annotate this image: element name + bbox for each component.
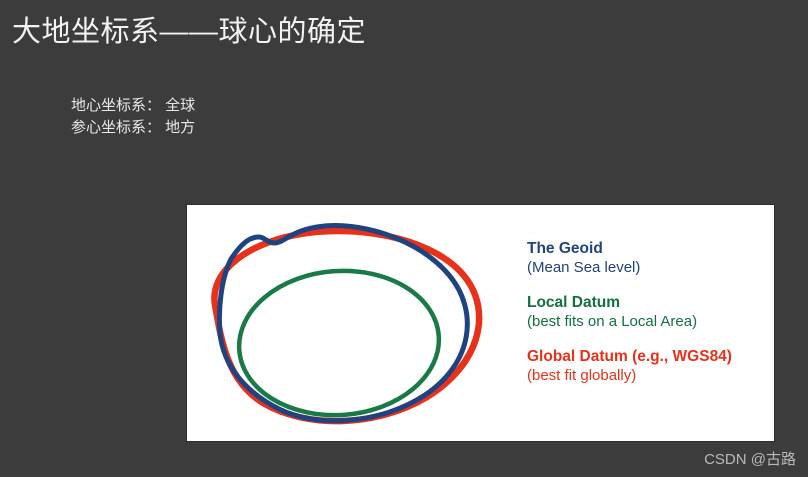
legend-subtitle-global-datum: (best fit globally) <box>527 366 774 385</box>
bullet-list: 地心坐标系： 全球 参心坐标系： 地方 <box>71 95 195 139</box>
legend-entry-local-datum: Local Datum (best fits on a Local Area) <box>527 293 774 331</box>
bullet-item-referencecentric: 参心坐标系： 地方 <box>71 117 195 139</box>
legend-subtitle-geoid: (Mean Sea level) <box>527 258 774 277</box>
legend-entry-global-datum: Global Datum (e.g., WGS84) (best fit glo… <box>527 347 774 385</box>
page-title: 大地坐标系——球心的确定 <box>12 13 366 51</box>
legend-subtitle-local-datum: (best fits on a Local Area) <box>527 312 774 331</box>
legend-title-local-datum: Local Datum <box>527 293 774 312</box>
geoid-curve <box>219 226 467 421</box>
legend-entry-geoid: The Geoid (Mean Sea level) <box>527 239 774 277</box>
legend-title-geoid: The Geoid <box>527 239 774 258</box>
bullet-item-geocentric: 地心坐标系： 全球 <box>71 95 195 117</box>
local-datum-curve <box>234 264 444 422</box>
figure-panel: The Geoid (Mean Sea level) Local Datum (… <box>187 205 774 441</box>
slide-canvas: 大地坐标系——球心的确定 地心坐标系： 全球 参心坐标系： 地方 The Geo… <box>0 0 808 477</box>
diagram-legend: The Geoid (Mean Sea level) Local Datum (… <box>527 239 774 401</box>
csdn-watermark: CSDN @古路 <box>704 448 796 469</box>
legend-title-global-datum: Global Datum (e.g., WGS84) <box>527 347 774 366</box>
datum-comparison-diagram <box>187 205 527 441</box>
